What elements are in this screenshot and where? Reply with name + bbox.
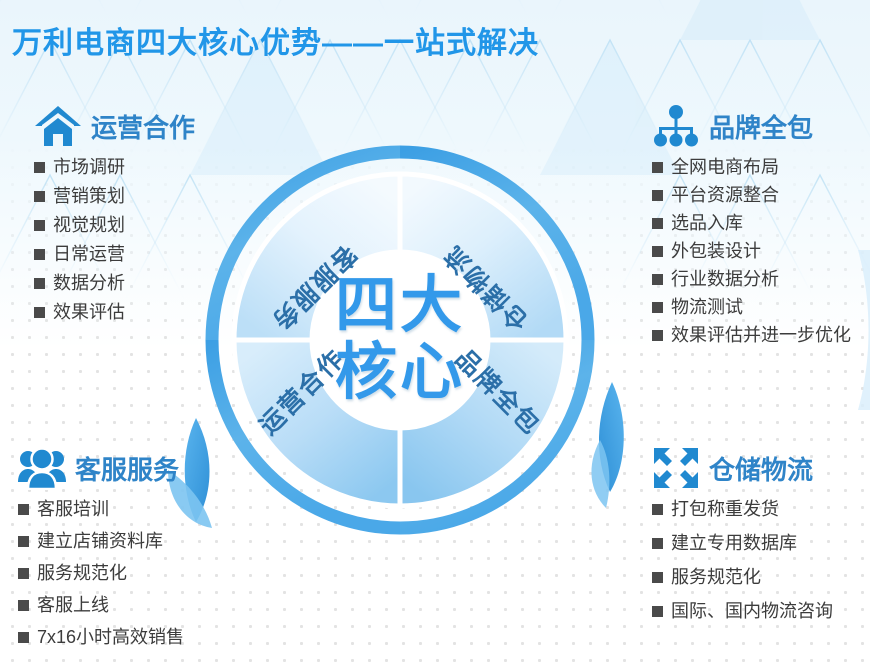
list-item-label: 服务规范化 xyxy=(671,568,761,586)
list-item: 平台资源整合 xyxy=(652,186,851,204)
list-item: 效果评估 xyxy=(34,303,195,321)
page-title: 万利电商四大核心优势——一站式解决 xyxy=(12,18,539,62)
quadrant-logistics-title: 仓储物流 xyxy=(709,450,813,487)
list-item: 客服上线 xyxy=(18,596,184,614)
list-item-label: 建立专用数据库 xyxy=(671,534,797,552)
list-item: 营销策划 xyxy=(34,187,195,205)
bullet-icon xyxy=(652,504,663,515)
bullet-icon xyxy=(18,536,29,547)
list-item-label: 日常运营 xyxy=(53,245,125,263)
list-item: 国际、国内物流咨询 xyxy=(652,602,833,620)
list-item-label: 打包称重发货 xyxy=(671,500,779,518)
list-item-label: 国际、国内物流咨询 xyxy=(671,602,833,620)
bullet-icon xyxy=(652,246,663,257)
list-item-label: 数据分析 xyxy=(53,274,125,292)
bullet-icon xyxy=(652,274,663,285)
bullet-icon xyxy=(18,504,29,515)
quadrant-logistics-header: 仓储物流 xyxy=(652,446,833,490)
list-item: 效果评估并进一步优化 xyxy=(652,326,851,344)
list-item-label: 建立店铺资料库 xyxy=(37,532,163,550)
quadrant-brand-list: 全网电商布局 平台资源整合 选品入库 外包装设计 行业数据分析 物流测试 效果评… xyxy=(652,158,851,344)
quadrant-operation: 运营合作 市场调研 营销策划 视觉规划 日常运营 数据分析 效果评估 xyxy=(34,104,195,332)
bullet-icon xyxy=(18,632,29,643)
core-donut-diagram: 运营合作 品牌全包 客服服务 仓储物流 xyxy=(190,130,610,550)
list-item: 服务规范化 xyxy=(652,568,833,586)
list-item: 数据分析 xyxy=(34,274,195,292)
bullet-icon xyxy=(652,538,663,549)
list-item: 建立店铺资料库 xyxy=(18,532,184,550)
list-item: 客服培训 xyxy=(18,500,184,518)
list-item: 外包装设计 xyxy=(652,242,851,260)
list-item: 行业数据分析 xyxy=(652,270,851,288)
bullet-icon xyxy=(652,330,663,341)
quadrant-brand-title: 品牌全包 xyxy=(709,108,813,145)
quadrant-brand-header: 品牌全包 xyxy=(652,104,851,148)
quadrant-service-title: 客服服务 xyxy=(75,450,179,487)
list-item-label: 选品入库 xyxy=(671,214,743,232)
list-item-label: 外包装设计 xyxy=(671,242,761,260)
quadrant-operation-list: 市场调研 营销策划 视觉规划 日常运营 数据分析 效果评估 xyxy=(34,158,195,321)
list-item-label: 7x16小时高效销售 xyxy=(37,628,184,646)
bullet-icon xyxy=(34,307,45,318)
list-item: 建立专用数据库 xyxy=(652,534,833,552)
bullet-icon xyxy=(18,568,29,579)
bullet-icon xyxy=(34,220,45,231)
bullet-icon xyxy=(34,249,45,260)
org-chart-icon xyxy=(652,104,700,148)
list-item: 物流测试 xyxy=(652,298,851,316)
list-item-label: 效果评估 xyxy=(53,303,125,321)
bullet-icon xyxy=(34,162,45,173)
list-item: 日常运营 xyxy=(34,245,195,263)
quadrant-brand: 品牌全包 全网电商布局 平台资源整合 选品入库 外包装设计 行业数据分析 物流测… xyxy=(652,104,851,354)
bullet-icon xyxy=(18,600,29,611)
list-item: 7x16小时高效销售 xyxy=(18,628,184,646)
bullet-icon xyxy=(652,302,663,313)
list-item-label: 全网电商布局 xyxy=(671,158,779,176)
list-item: 选品入库 xyxy=(652,214,851,232)
quadrant-service-header: 客服服务 xyxy=(18,446,184,490)
quadrant-logistics-list: 打包称重发货 建立专用数据库 服务规范化 国际、国内物流咨询 xyxy=(652,500,833,620)
list-item-label: 平台资源整合 xyxy=(671,186,779,204)
people-icon xyxy=(18,446,66,490)
list-item-label: 营销策划 xyxy=(53,187,125,205)
list-item-label: 效果评估并进一步优化 xyxy=(671,326,851,344)
home-icon xyxy=(34,104,82,148)
list-item: 市场调研 xyxy=(34,158,195,176)
quadrant-service: 客服服务 客服培训 建立店铺资料库 服务规范化 客服上线 7x16小时高效销售 xyxy=(18,446,184,660)
bullet-icon xyxy=(652,606,663,617)
list-item: 视觉规划 xyxy=(34,216,195,234)
list-item: 打包称重发货 xyxy=(652,500,833,518)
quadrant-operation-header: 运营合作 xyxy=(34,104,195,148)
list-item-label: 服务规范化 xyxy=(37,564,127,582)
list-item-label: 物流测试 xyxy=(671,298,743,316)
bullet-icon xyxy=(652,218,663,229)
list-item-label: 行业数据分析 xyxy=(671,270,779,288)
list-item-label: 视觉规划 xyxy=(53,216,125,234)
list-item-label: 市场调研 xyxy=(53,158,125,176)
quadrant-logistics: 仓储物流 打包称重发货 建立专用数据库 服务规范化 国际、国内物流咨询 xyxy=(652,446,833,636)
bullet-icon xyxy=(652,572,663,583)
quadrant-service-list: 客服培训 建立店铺资料库 服务规范化 客服上线 7x16小时高效销售 xyxy=(18,500,184,646)
bullet-icon xyxy=(34,278,45,289)
quadrant-operation-title: 运营合作 xyxy=(91,108,195,145)
bullet-icon xyxy=(34,191,45,202)
bullet-icon xyxy=(652,190,663,201)
four-arrows-icon xyxy=(652,446,700,490)
list-item-label: 客服上线 xyxy=(37,596,109,614)
list-item: 全网电商布局 xyxy=(652,158,851,176)
list-item: 服务规范化 xyxy=(18,564,184,582)
bullet-icon xyxy=(652,162,663,173)
list-item-label: 客服培训 xyxy=(37,500,109,518)
